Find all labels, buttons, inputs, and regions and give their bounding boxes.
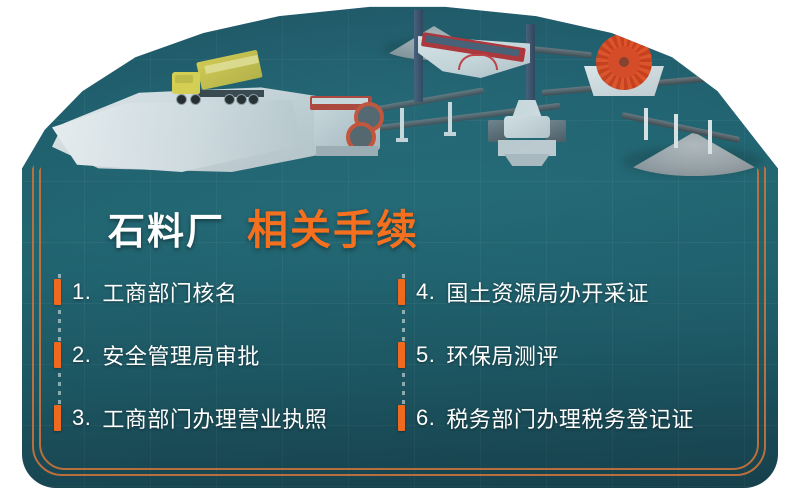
conveyor-leg — [708, 120, 712, 154]
list-item-number: 5. — [416, 342, 435, 368]
conveyor-foot — [444, 132, 456, 136]
procedures-left-column: 1. 工商部门核名 2. 安全管理局审批 3. 工商部门办理营业执照 — [54, 260, 414, 449]
truck-wheel — [190, 94, 201, 105]
list-item-number: 1. — [72, 279, 91, 305]
banner-stage: 石料厂 相关手续 1. 工商部门核名 2. 安全管理局审批 — [0, 0, 800, 500]
teal-banner-panel: 石料厂 相关手续 1. 工商部门核名 2. 安全管理局审批 — [22, 4, 778, 488]
list-item[interactable]: 4. 国土资源局办开采证 — [398, 260, 758, 323]
conveyor-leg — [400, 108, 404, 138]
truck-wheel — [176, 94, 187, 105]
conveyor-belt-icon — [621, 112, 740, 143]
list-item-label: 税务部门办理税务登记证 — [446, 402, 694, 434]
conveyor-leg — [644, 108, 648, 140]
list-item[interactable]: 2. 安全管理局审批 — [54, 323, 414, 386]
list-item-label: 工商部门办理营业执照 — [102, 402, 327, 434]
bullet-marker-icon — [398, 279, 405, 305]
bullet-marker-icon — [398, 342, 405, 368]
crusher-hopper-inner — [312, 98, 368, 104]
cone-base — [498, 140, 556, 156]
cone-crusher-icon — [488, 100, 566, 168]
banner-content: 石料厂 相关手续 1. 工商部门核名 2. 安全管理局审批 — [22, 174, 778, 488]
list-item-label: 工商部门核名 — [102, 276, 237, 308]
crusher-base — [316, 146, 378, 156]
conveyor-foot — [396, 138, 408, 142]
bullet-marker-icon — [54, 342, 61, 368]
vibrating-screen-icon — [418, 26, 534, 88]
bullet-marker-icon — [54, 405, 61, 431]
procedures-right-column: 4. 国土资源局办开采证 5. 环保局测评 6. 税务部门办理税务登记证 — [398, 260, 758, 449]
truck-window — [175, 75, 193, 83]
list-item[interactable]: 6. 税务部门办理税务登记证 — [398, 386, 758, 449]
list-item[interactable]: 5. 环保局测评 — [398, 323, 758, 386]
list-item-number: 6. — [416, 405, 435, 431]
bullet-marker-icon — [398, 405, 405, 431]
list-item-label: 安全管理局审批 — [102, 339, 260, 371]
list-item-label: 国土资源局办开采证 — [446, 276, 649, 308]
title-accent: 相关手续 — [247, 196, 419, 256]
dump-truck-icon — [172, 62, 272, 106]
truck-wheel — [248, 94, 259, 105]
washer-wheel-hub — [619, 57, 629, 67]
conveyor-leg — [674, 114, 678, 148]
cone-legs — [504, 154, 550, 166]
conveyor-leg — [448, 102, 452, 132]
cone-body — [504, 116, 550, 138]
bullet-marker-icon — [54, 279, 61, 305]
truck-wheel — [224, 94, 235, 105]
jaw-crusher-icon — [310, 92, 386, 158]
list-item-number: 3. — [72, 405, 91, 431]
title-main: 石料厂 — [108, 201, 225, 255]
list-item-number: 2. — [72, 342, 91, 368]
list-item[interactable]: 1. 工商部门核名 — [54, 260, 414, 323]
list-item-number: 4. — [416, 279, 435, 305]
truck-wheel — [236, 94, 247, 105]
sand-washer-icon — [574, 32, 674, 98]
list-item[interactable]: 3. 工商部门办理营业执照 — [54, 386, 414, 449]
banner-title: 石料厂 相关手续 — [108, 196, 419, 256]
list-item-label: 环保局测评 — [446, 339, 559, 371]
